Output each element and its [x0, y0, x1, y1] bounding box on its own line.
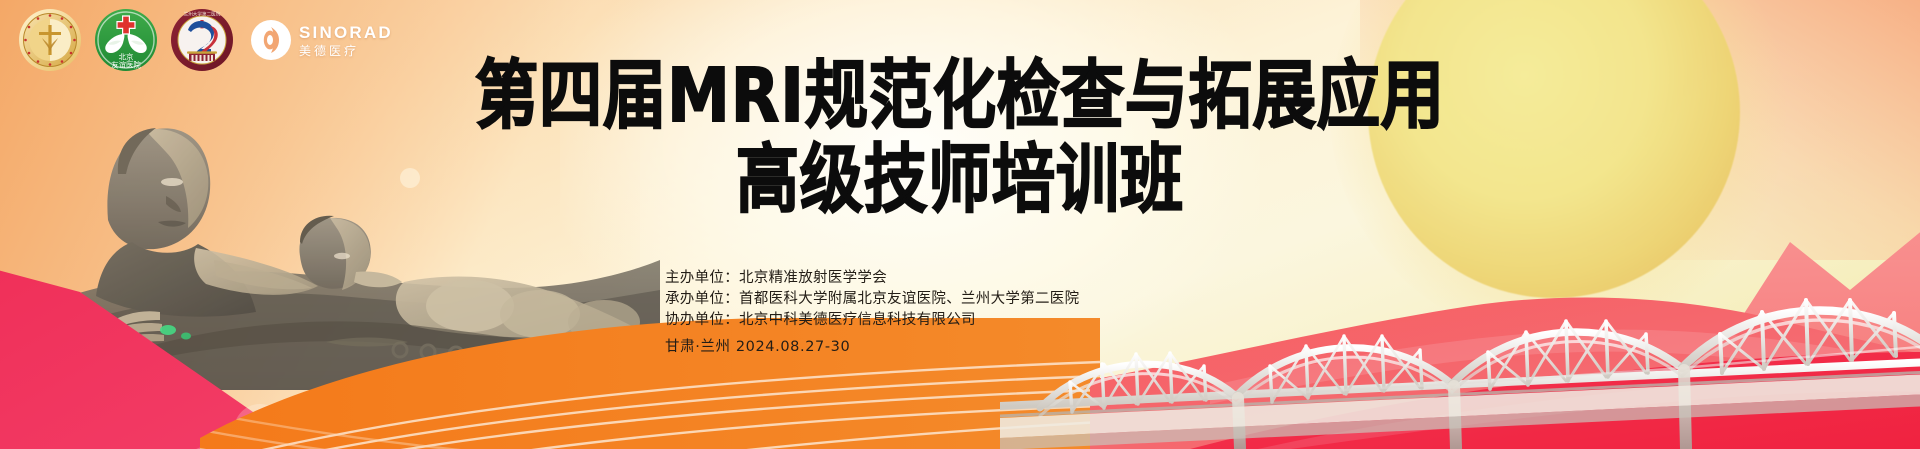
detail-line-host: 主办单位：北京精准放射医学学会 [665, 268, 1079, 289]
organiser-details: 主办单位：北京精准放射医学学会 承办单位：首都医科大学附属北京友谊医院、兰州大学… [665, 268, 1079, 358]
sinorad-eye-mark-icon [250, 19, 292, 61]
svg-text:友谊医院: 友谊医院 [111, 61, 141, 70]
logo-lanzhou-second-hospital-icon: 兰州大学第二医院 [170, 8, 234, 72]
detail-line-place-date: 甘肃·兰州 2024.08.27-30 [665, 337, 1079, 358]
conference-banner: 北京 友谊医院 兰州大学第二医院 [0, 0, 1920, 449]
logo-beijing-friendship-icon: 北京 友谊医院 [94, 8, 158, 72]
sinorad-name-cn: 美德医疗 [299, 45, 393, 57]
detail-line-organiser: 承办单位：首都医科大学附属北京友谊医院、兰州大学第二医院 [665, 289, 1079, 310]
detail-line-coorganiser: 协办单位：北京中科美德医疗信息科技有限公司 [665, 310, 1079, 331]
logo-gold-cross-icon [18, 8, 82, 72]
logo-row: 北京 友谊医院 兰州大学第二医院 [18, 8, 393, 72]
lanzhou-zhongshan-iron-bridge [1000, 180, 1920, 449]
sinorad-name-en: SINORAD [299, 24, 393, 41]
sponsor-brand-sinorad: SINORAD 美德医疗 [250, 19, 393, 61]
svg-text:兰州大学第二医院: 兰州大学第二医院 [184, 11, 221, 18]
